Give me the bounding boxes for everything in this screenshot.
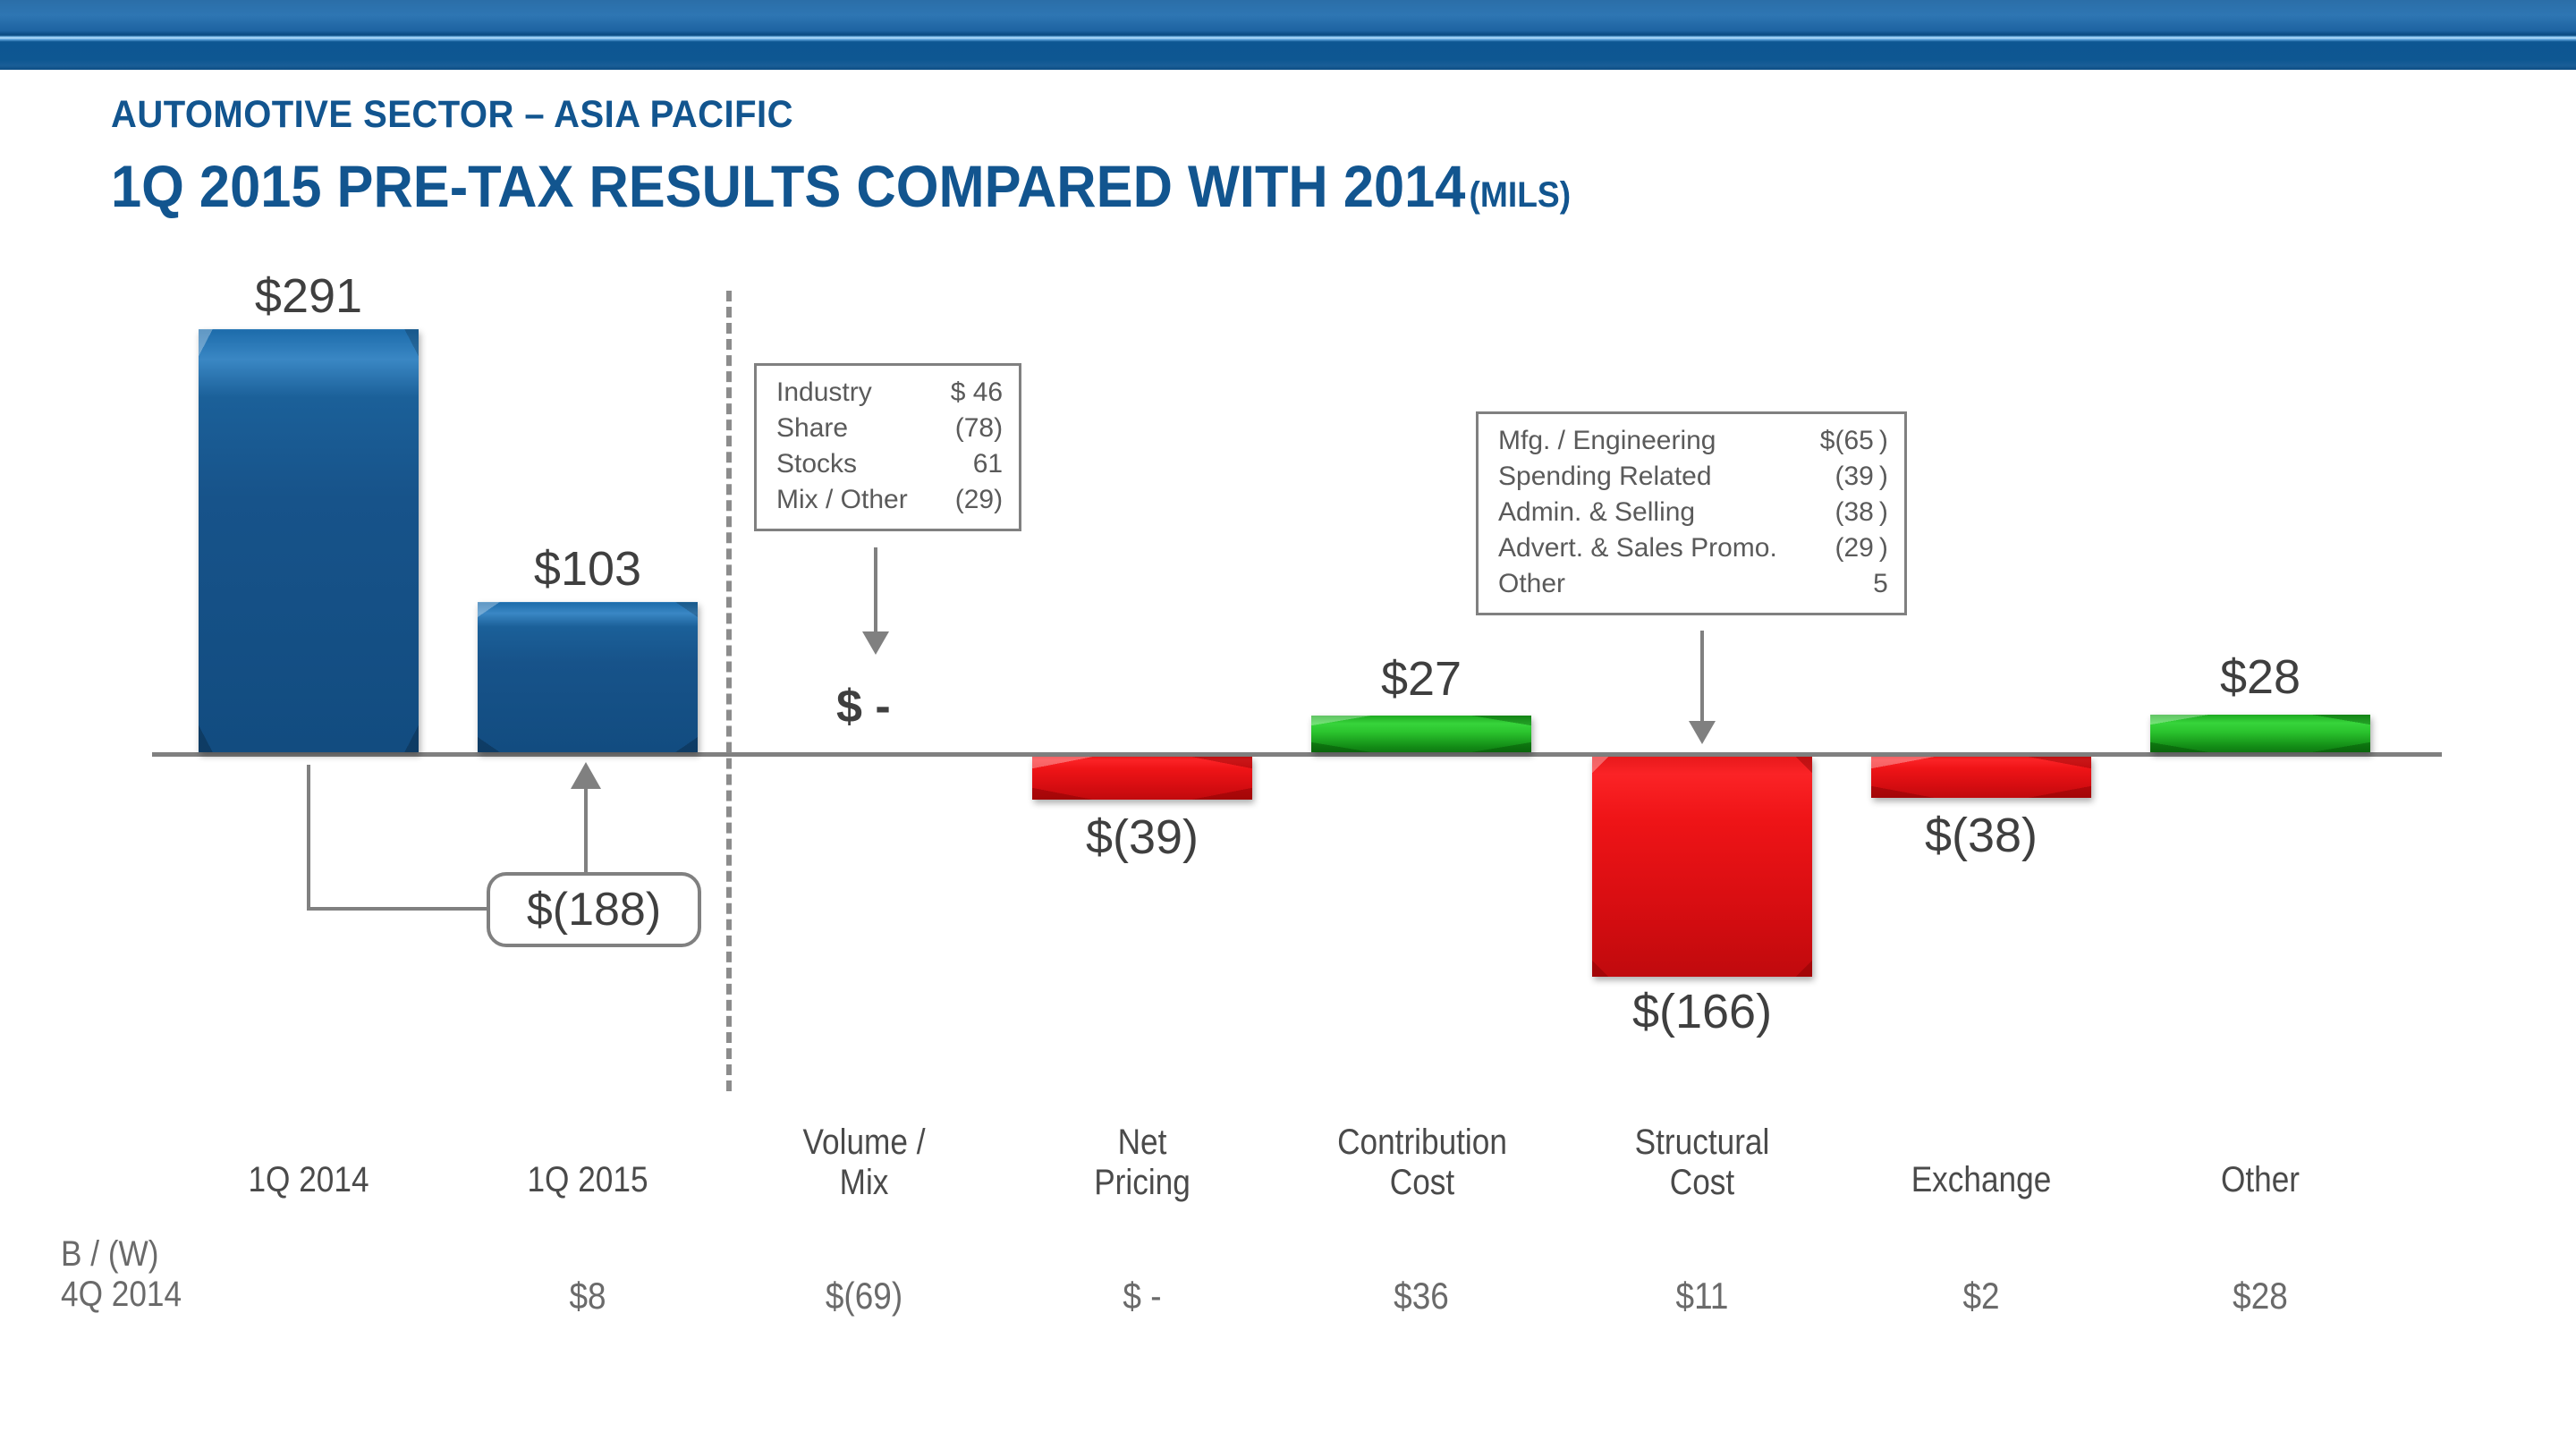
category-label-1q-2014: 1Q 2014 [212,1160,405,1200]
callout-row-name: Share [776,411,908,446]
bar-value-1q-2014: $291 [199,268,419,324]
callout-row-name: Mfg. / Engineering [1498,423,1777,459]
category-label-line1: Structural [1606,1123,1799,1163]
delta-connector-vertical [307,765,310,910]
table-row: Share (78) [776,411,1003,446]
delta-arrow-line [584,789,588,874]
callout-row-name: Spending Related [1498,459,1777,495]
table-row: Advert. & Sales Promo. (29 ) [1498,530,1888,566]
bar-other[interactable] [2150,715,2370,752]
callout-volume-arrow-line [874,547,877,634]
bar-1q-2015[interactable] [478,602,698,752]
bar-exchange[interactable] [1871,757,2091,798]
bw-value-1q-2015: $8 [491,1275,684,1318]
category-label-row: 1Q 2014 1Q 2015 Volume / Mix Net Pricing… [0,1123,2576,1230]
callout-row-value: 61 [908,446,1003,482]
callout-row-name: Advert. & Sales Promo. [1498,530,1777,566]
bar-structural-cost[interactable] [1592,757,1812,977]
category-label-contribution-cost: Contribution Cost [1304,1123,1540,1203]
callout-row-value: (78) [908,411,1003,446]
table-row: Stocks 61 [776,446,1003,482]
delta-total-bubble: $(188) [487,872,701,947]
bar-1q-2014[interactable] [199,329,419,752]
category-label-exchange: Exchange [1885,1160,2078,1200]
bw-row-header-line2: 4Q 2014 [61,1275,182,1315]
table-row: Admin. & Selling (38 ) [1498,495,1888,530]
bar-value-other: $28 [2150,649,2370,705]
bar-value-net-pricing: $(39) [1032,809,1252,865]
category-label-line2: Mix [767,1163,961,1203]
category-label-other: Other [2164,1160,2357,1200]
bw-value-contribution-cost: $36 [1325,1275,1518,1318]
waterfall-chart: $291 $103 $ - $(39) $27 $(166) $(38) $28 [0,0,2576,1449]
bw-value-exchange: $2 [1885,1275,2078,1318]
callout-structural-arrow-head-icon [1689,721,1716,744]
bar-value-contribution-cost: $27 [1311,651,1531,707]
category-label-line2: Pricing [1046,1163,1239,1203]
category-label-line2: Cost [1606,1163,1799,1203]
callout-row-name: Other [1498,566,1777,602]
table-row: Other 5 [1498,566,1888,602]
bw-value-net-pricing: $ - [1046,1275,1239,1318]
callout-volume-mix-table: Industry $ 46 Share (78) Stocks 61 Mix /… [776,375,1003,518]
bw-value-other: $28 [2164,1275,2357,1318]
bar-value-structural-cost: $(166) [1592,984,1812,1039]
table-row: Spending Related (39 ) [1498,459,1888,495]
category-label-structural-cost: Structural Cost [1606,1123,1799,1203]
bw-value-structural-cost: $11 [1606,1275,1799,1318]
callout-volume-mix: Industry $ 46 Share (78) Stocks 61 Mix /… [754,363,1021,531]
category-label-net-pricing: Net Pricing [1046,1123,1239,1203]
category-label-volume-mix: Volume / Mix [767,1123,961,1203]
table-row: Mfg. / Engineering $(65 ) [1498,423,1888,459]
bar-value-1q-2015: $103 [478,541,698,597]
bar-bevel [1592,757,1812,977]
bar-value-exchange: $(38) [1871,808,2091,863]
bar-bevel [1871,757,2091,798]
callout-row-value: (29 ) [1777,530,1888,566]
category-label-line1: Contribution [1304,1123,1540,1163]
callout-structural-cost-table: Mfg. / Engineering $(65 ) Spending Relat… [1498,423,1888,602]
callout-row-name: Mix / Other [776,482,908,518]
category-label-line1: Net [1046,1123,1239,1163]
callout-row-value: (39 ) [1777,459,1888,495]
delta-arrow-head-icon [571,762,601,789]
delta-connector-horizontal [307,907,490,911]
bw-value-volume-mix: $(69) [767,1275,961,1318]
bar-value-volume-mix: $ - [836,680,891,733]
category-label-line1: 1Q 2014 [212,1160,405,1200]
bar-bevel [2150,715,2370,752]
category-label-1q-2015: 1Q 2015 [491,1160,684,1200]
zero-baseline [152,752,2442,757]
callout-row-value: (38 ) [1777,495,1888,530]
bar-bevel [199,329,419,752]
bar-bevel [1032,757,1252,800]
table-row: Mix / Other (29) [776,482,1003,518]
callout-row-value: 5 [1777,566,1888,602]
callout-row-name: Stocks [776,446,908,482]
callout-volume-arrow-head-icon [862,631,889,655]
category-label-line1: Exchange [1885,1160,2078,1200]
category-label-line1: 1Q 2015 [491,1160,684,1200]
bar-contribution-cost[interactable] [1311,716,1531,752]
callout-row-name: Admin. & Selling [1498,495,1777,530]
table-row: Industry $ 46 [776,375,1003,411]
bw-row-header-line1: B / (W) [61,1234,182,1275]
callout-row-value: $(65 ) [1777,423,1888,459]
category-label-line1: Volume / [767,1123,961,1163]
category-label-line2: Cost [1304,1163,1540,1203]
bar-bevel [1311,716,1531,752]
bar-net-pricing[interactable] [1032,757,1252,800]
callout-structural-cost: Mfg. / Engineering $(65 ) Spending Relat… [1476,411,1907,615]
callout-row-value: (29) [908,482,1003,518]
bar-bevel [478,602,698,752]
callout-row-name: Industry [776,375,908,411]
category-label-line1: Other [2164,1160,2357,1200]
callout-structural-arrow-line [1700,631,1704,724]
callout-row-value: $ 46 [908,375,1003,411]
bw-row-header: B / (W) 4Q 2014 [61,1234,182,1315]
section-divider-dashed [726,291,732,1091]
